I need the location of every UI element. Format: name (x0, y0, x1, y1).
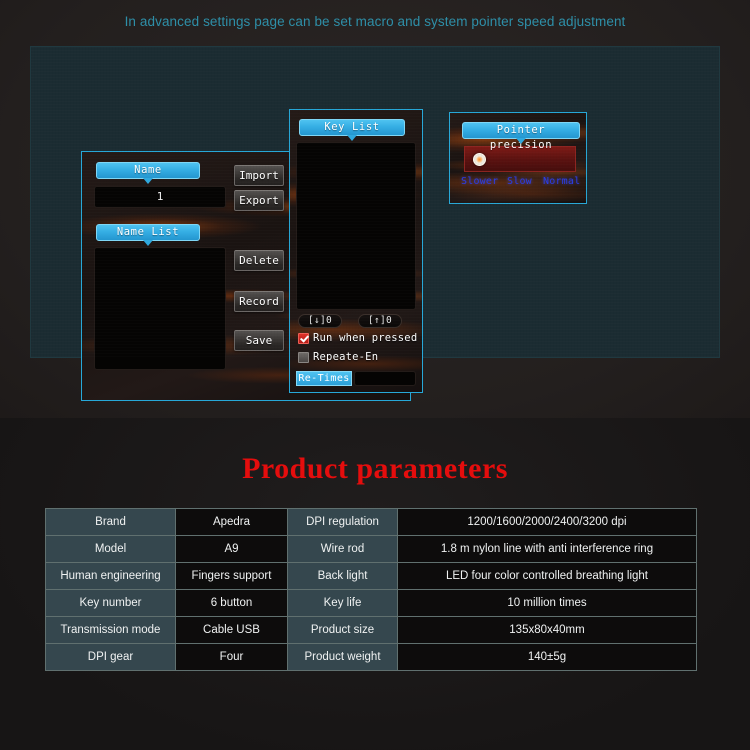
table-row: Brand Apedra DPI regulation 1200/1600/20… (46, 509, 697, 536)
slider-label-slow: Slow (507, 176, 532, 187)
run-when-pressed-checkbox-row[interactable]: Run when pressed (298, 332, 417, 344)
name-list-box[interactable] (94, 247, 226, 370)
product-parameters-table: Brand Apedra DPI regulation 1200/1600/20… (45, 508, 697, 671)
record-button[interactable]: Record (234, 291, 284, 312)
param-value-2: 140±5g (398, 644, 697, 671)
param-value-1: A9 (176, 536, 288, 563)
table-row: Model A9 Wire rod 1.8 m nylon line with … (46, 536, 697, 563)
delay-up-field[interactable]: [↑]0 (358, 314, 402, 328)
slider-label-normal: Normal (543, 176, 580, 187)
table-row: Human engineering Fingers support Back l… (46, 563, 697, 590)
save-button[interactable]: Save (234, 330, 284, 351)
product-parameters-title: Product parameters (0, 452, 750, 486)
key-list-box[interactable] (296, 142, 416, 310)
checkbox-unchecked-icon[interactable] (298, 352, 309, 363)
app-window: Name 1 Name List Import Export Delete Re… (30, 46, 720, 358)
param-value-1: 6 button (176, 590, 288, 617)
run-when-pressed-label: Run when pressed (313, 332, 417, 344)
param-label-2: DPI regulation (288, 509, 398, 536)
param-value-2: 1.8 m nylon line with anti interference … (398, 536, 697, 563)
delete-button[interactable]: Delete (234, 250, 284, 271)
pointer-precision-tab: Pointer precision (462, 122, 580, 139)
param-value-1: Four (176, 644, 288, 671)
param-label-1: Model (46, 536, 176, 563)
slider-label-slower: Slower (461, 176, 498, 187)
re-times-input[interactable] (354, 371, 416, 386)
param-label-1: Brand (46, 509, 176, 536)
table-row: DPI gear Four Product weight 140±5g (46, 644, 697, 671)
header-caption: In advanced settings page can be set mac… (0, 14, 750, 29)
param-label-1: DPI gear (46, 644, 176, 671)
repeate-en-checkbox-row[interactable]: Repeate-En (298, 351, 378, 363)
param-value-2: 10 million times (398, 590, 697, 617)
table-row: Transmission mode Cable USB Product size… (46, 617, 697, 644)
param-value-2: 135x80x40mm (398, 617, 697, 644)
param-value-1: Fingers support (176, 563, 288, 590)
repeate-en-label: Repeate-En (313, 351, 378, 363)
checkbox-checked-icon[interactable] (298, 333, 309, 344)
table-row: Key number 6 button Key life 10 million … (46, 590, 697, 617)
key-list-tab: Key List (299, 119, 405, 136)
name-input[interactable]: 1 (94, 186, 226, 208)
param-label-2: Wire rod (288, 536, 398, 563)
export-button[interactable]: Export (234, 190, 284, 211)
param-label-1: Human engineering (46, 563, 176, 590)
param-value-2: LED four color controlled breathing ligh… (398, 563, 697, 590)
name-tab: Name (96, 162, 200, 179)
delay-down-field[interactable]: [↓]0 (298, 314, 342, 328)
param-label-1: Transmission mode (46, 617, 176, 644)
pointer-precision-panel: Pointer precision Slower Slow Normal (449, 112, 587, 204)
param-label-2: Product size (288, 617, 398, 644)
param-label-2: Back light (288, 563, 398, 590)
param-value-1: Apedra (176, 509, 288, 536)
re-times-label: Re-Times (296, 371, 352, 386)
import-button[interactable]: Import (234, 165, 284, 186)
name-list-tab: Name List (96, 224, 200, 241)
param-value-1: Cable USB (176, 617, 288, 644)
slider-handle[interactable] (473, 153, 486, 166)
param-label-1: Key number (46, 590, 176, 617)
param-value-2: 1200/1600/2000/2400/3200 dpi (398, 509, 697, 536)
key-list-panel: Key List [↓]0 [↑]0 Run when pressed Repe… (289, 109, 423, 393)
param-label-2: Product weight (288, 644, 398, 671)
software-screenshot-section: In advanced settings page can be set mac… (0, 0, 750, 418)
table-body: Brand Apedra DPI regulation 1200/1600/20… (46, 509, 697, 671)
param-label-2: Key life (288, 590, 398, 617)
